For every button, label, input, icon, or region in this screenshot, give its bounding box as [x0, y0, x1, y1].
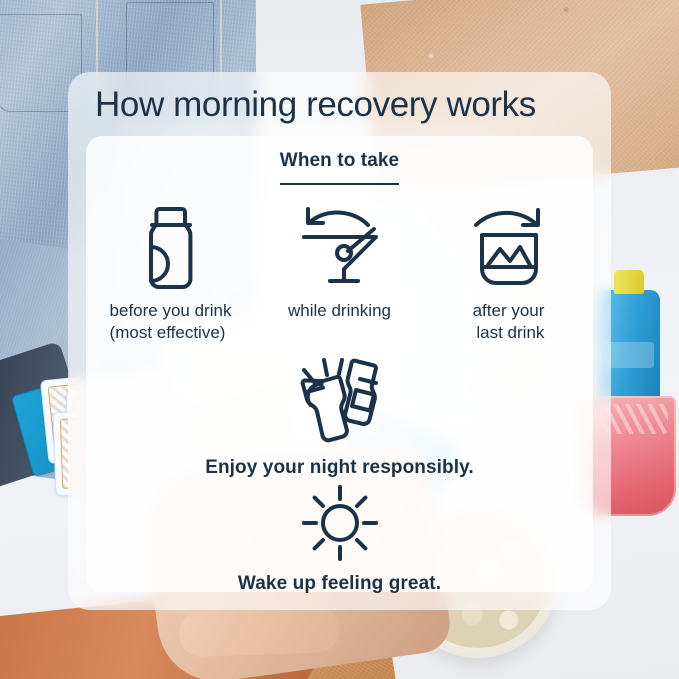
- info-card: How morning recovery works When to take: [68, 72, 611, 610]
- subtitle-wrap: When to take: [86, 150, 593, 185]
- martini-glass-arrow-left-icon: [296, 202, 384, 294]
- clinking-bottles-icon: [288, 354, 392, 455]
- bottle-icon: [140, 202, 202, 294]
- finger: [179, 606, 341, 658]
- screenshot-root: How morning recovery works When to take: [0, 0, 679, 679]
- step-enjoy-your-night: Enjoy your night responsibly.: [86, 354, 593, 479]
- label-line-1: after your: [473, 300, 545, 322]
- tumbler-glass-arrow-right-icon: [468, 202, 550, 294]
- step-caption: Enjoy your night responsibly.: [205, 457, 474, 479]
- timing-option-after-your-last-drink: after your last drink: [424, 202, 593, 344]
- when-to-take-panel: When to take before you drink (most effe: [86, 136, 593, 592]
- timing-option-label: after your last drink: [473, 300, 545, 344]
- label-line-2: (most effective): [110, 322, 232, 344]
- page-title: How morning recovery works: [95, 82, 605, 128]
- timing-option-before-you-drink: before you drink (most effective): [86, 202, 255, 344]
- sun-icon: [301, 484, 379, 567]
- step-caption: Wake up feeling great.: [238, 573, 441, 595]
- timing-option-label: while drinking: [288, 300, 391, 322]
- label-line-1: while drinking: [288, 300, 391, 322]
- step-wake-up-feeling-great: Wake up feeling great.: [86, 484, 593, 595]
- label-line-1: before you drink: [110, 300, 232, 322]
- timing-option-while-drinking: while drinking: [255, 202, 424, 344]
- timing-options-row: before you drink (most effective): [86, 202, 593, 344]
- timing-option-label: before you drink (most effective): [110, 300, 232, 344]
- panel-subtitle: When to take: [280, 150, 399, 185]
- label-line-2: last drink: [473, 322, 545, 344]
